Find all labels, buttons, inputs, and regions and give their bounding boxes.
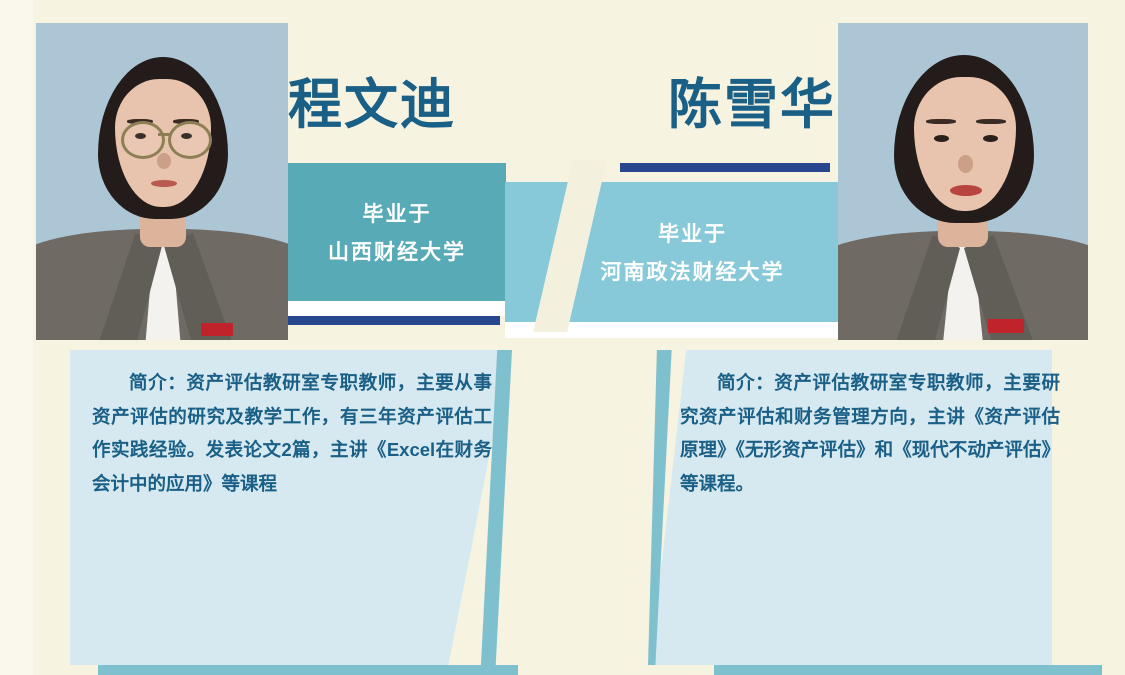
rule-navy-left [288, 316, 500, 325]
photo-lapel-badge [201, 323, 233, 336]
glasses-lens-left-icon [121, 121, 165, 159]
rule-navy-right [620, 163, 830, 172]
glasses-lens-right-icon [168, 121, 212, 159]
portrait-photo-cheng-wendi [36, 23, 288, 340]
graduated-label-left: 毕业于 [363, 198, 432, 228]
bio-panel-right: 简介：资产评估教研室专职教师，主要研究资产评估和财务管理方向，主讲《资产评估原理… [650, 350, 1052, 665]
photo-eye-left [934, 135, 949, 142]
bio-panel-left-base [98, 665, 518, 675]
university-left: 山西财经大学 [328, 236, 466, 266]
graduated-label-right: 毕业于 [658, 218, 727, 248]
photo-brow-left [926, 119, 956, 124]
profile-name-right: 陈雪华 [668, 78, 836, 132]
bio-text-left: 简介：资产评估教研室专职教师，主要从事资产评估的研究及教学工作，有三年资产评估工… [92, 366, 492, 501]
bio-panel-left: 简介：资产评估教研室专职教师，主要从事资产评估的研究及教学工作，有三年资产评估工… [70, 350, 510, 665]
portrait-photo-chen-xuehua [838, 23, 1088, 340]
university-right: 河南政法财经大学 [601, 256, 785, 286]
background-left-strip [0, 0, 33, 675]
profile-name-left: 程文迪 [288, 78, 456, 132]
photo-lapel-badge [988, 319, 1024, 333]
photo-nose [157, 153, 171, 169]
photo-brow-right [976, 119, 1006, 124]
photo-nose [958, 155, 973, 173]
rule-white-left [288, 301, 506, 316]
education-badge-left: 毕业于 山西财经大学 [288, 163, 506, 301]
photo-mouth [950, 185, 982, 196]
photo-eye-right [983, 135, 998, 142]
photo-mouth [151, 180, 177, 187]
poster-canvas: 程文迪 毕业于 山西财经大学 陈雪华 毕业于 河南政法财经大学 简介：资产评估教… [0, 0, 1125, 675]
glasses-bridge-icon [158, 133, 170, 136]
bio-text-right: 简介：资产评估教研室专职教师，主要研究资产评估和财务管理方向，主讲《资产评估原理… [680, 366, 1060, 501]
bio-panel-right-base [714, 665, 1102, 675]
